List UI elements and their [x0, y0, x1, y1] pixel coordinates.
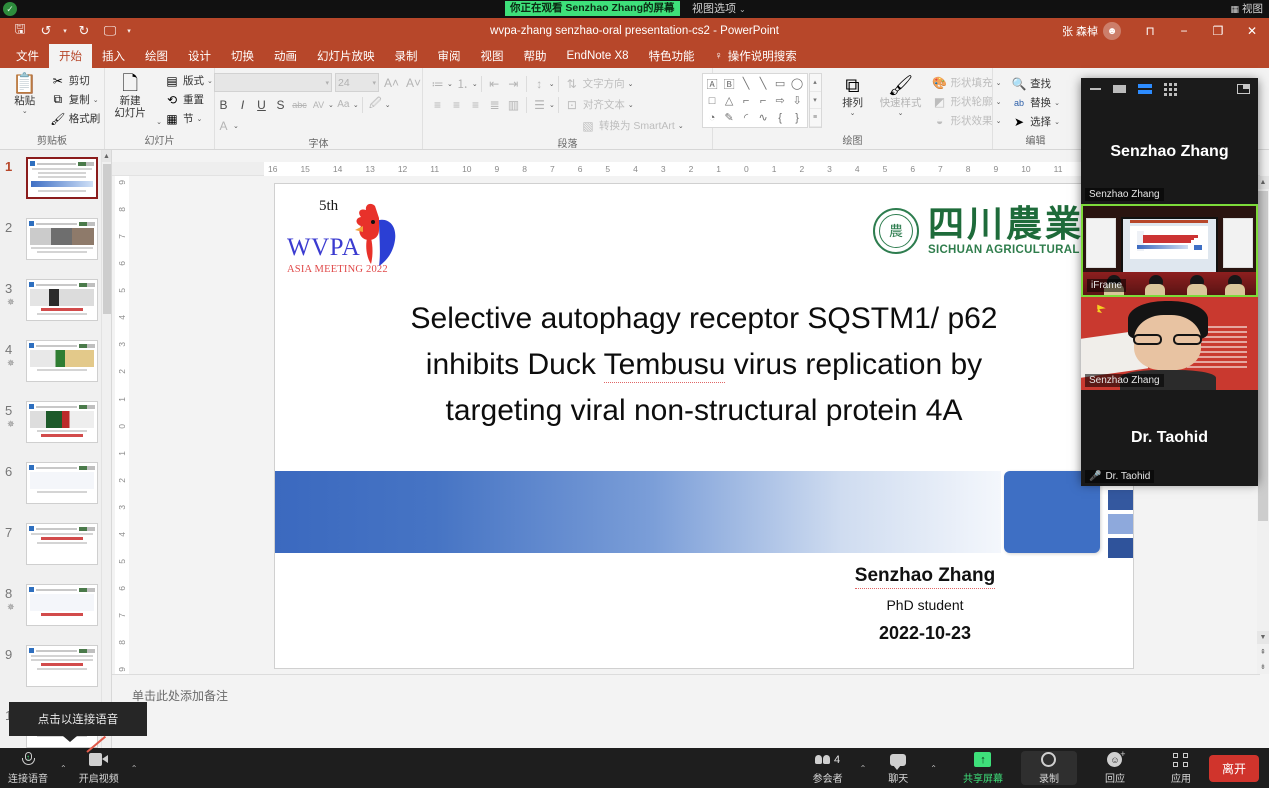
shape-elbow-arrow-icon[interactable]: ⌐ [755, 92, 772, 109]
author-name: Senzhao Zhang [855, 565, 995, 589]
align-left-icon[interactable]: ≡ [428, 95, 447, 114]
view-options-label: 视图选项 [692, 3, 736, 15]
start-video-button[interactable]: 开启视频 [71, 748, 127, 788]
close-icon[interactable]: ✕ [1235, 18, 1269, 44]
shape-outline-icon: ◩ [932, 95, 948, 109]
mic-muted-icon: 🎤 [1089, 471, 1101, 482]
ruler-tick: 4 [855, 164, 860, 174]
select-button[interactable]: ➤ 选择 ⌄ [1009, 112, 1062, 131]
thumb-number: 4 [5, 342, 12, 357]
cut-button[interactable]: ✂ 剪切 [48, 71, 103, 90]
restore-icon[interactable]: ❐ [1201, 18, 1235, 44]
table-row[interactable]: 6 [0, 460, 111, 516]
minimize-icon[interactable] [1090, 88, 1101, 90]
line-spacing-caret-icon[interactable]: ⌄ [549, 80, 555, 88]
ruler-tick: 12 [398, 164, 407, 174]
tab-home[interactable]: 开始 [49, 44, 92, 68]
title-line2-part-c: virus replication by [725, 348, 982, 381]
ruler-tick: 14 [333, 164, 342, 174]
thumb-number: 9 [5, 647, 12, 662]
slide-title-line-3: targeting viral non-structural protein 4… [323, 388, 1085, 434]
tab-view[interactable]: 视图 [471, 44, 514, 68]
font-color-icon[interactable]: A [214, 116, 233, 135]
animation-star-icon: ✵ [7, 358, 15, 369]
next-slide-icon[interactable]: ⇟ [1257, 659, 1269, 674]
text-columns-caret-icon[interactable]: ⌄ [549, 101, 555, 109]
ruler-tick: 0 [744, 164, 749, 174]
font-color-caret-icon[interactable]: ⌄ [233, 122, 239, 130]
reactions-label: 回应 [1105, 770, 1125, 785]
slide-vertical-scrollbar[interactable]: ▲ ▼ ⇞ ⇟ [1257, 176, 1269, 674]
participant-label: Senzhao Zhang [1085, 374, 1164, 387]
align-text-label: 对齐文本 [583, 97, 625, 112]
bullets-icon[interactable]: ≔ [428, 74, 447, 93]
decrease-font-size-icon[interactable]: A˅ [404, 73, 423, 92]
strikethrough-button[interactable]: abc [290, 95, 309, 114]
table-row[interactable]: 1 [0, 155, 111, 211]
wvpa-logo: 5th WVPA ASIA MEETING 2022 [287, 198, 407, 280]
thumb-number: 3 [5, 281, 12, 296]
ruler-tick: 16 [268, 164, 277, 174]
font-name-input[interactable]: ▾ [214, 73, 332, 92]
table-row[interactable]: 2 [0, 216, 111, 272]
format-painter-button[interactable]: 🖌 格式刷 [48, 109, 103, 128]
slide-thumbnail-2[interactable] [26, 218, 98, 260]
quick-access-toolbar: 🖫 ↺ ▾ ↻ 🖵 ▾ [0, 20, 134, 42]
bold-button[interactable]: B [214, 95, 233, 114]
headset-icon: ↑ [22, 751, 35, 768]
quick-styles-caret-icon[interactable]: ⌄ [898, 109, 904, 117]
active-view-icon[interactable] [1138, 84, 1152, 94]
replace-caret-icon[interactable]: ⌄ [1054, 99, 1060, 107]
customize-qat-caret-icon[interactable]: ▾ [124, 27, 134, 35]
tab-draw[interactable]: 绘图 [135, 44, 178, 68]
view-mode-button[interactable]: ▦视图 [1230, 1, 1263, 17]
thumb-number: 2 [5, 220, 12, 235]
scroll-up-icon[interactable]: ▲ [102, 150, 111, 162]
section-button[interactable]: ▦ 节 ⌄ [162, 109, 215, 128]
copy-button[interactable]: ⧉ 复制 ⌄ [48, 90, 103, 109]
shapes-scroll-up-icon[interactable]: ▴ [810, 74, 821, 92]
drawing-group-label: 绘图 [718, 132, 987, 149]
ruler-tick: 8 [522, 164, 527, 174]
tab-animations[interactable]: 动画 [264, 44, 307, 68]
zoom-tile-shared-room[interactable]: iFrame [1081, 204, 1258, 297]
zoom-panel-toolbar [1081, 78, 1258, 100]
table-row[interactable]: 5 ✵ [0, 399, 111, 455]
new-slide-label-1: 新建 [120, 95, 141, 107]
table-row[interactable]: 4 ✵ [0, 338, 111, 394]
tooltip-text: 点击以连接语音 [38, 711, 119, 727]
shapes-gallery-more-icon[interactable]: ≡ [810, 109, 821, 127]
align-right-icon[interactable]: ≡ [466, 95, 485, 114]
chat-label: 聊天 [888, 770, 908, 785]
divider [558, 97, 559, 113]
ruler-tick: 8 [966, 164, 971, 174]
decorative-square-2[interactable] [1108, 514, 1133, 534]
section-icon: ▦ [164, 112, 180, 126]
tab-help[interactable]: 帮助 [514, 44, 557, 68]
ruler-tick: 6 [910, 164, 915, 174]
tab-slideshow[interactable]: 幻灯片放映 [307, 44, 385, 68]
start-video-label: 开启视频 [79, 770, 119, 785]
screen-sharing-badge: 你正在观看 Senzhao Zhang的屏幕 [505, 1, 680, 16]
section-caret-icon[interactable]: ⌄ [197, 115, 203, 123]
participant-name-large: Dr. Taohid [1131, 429, 1208, 447]
video-options-caret-icon[interactable]: ⌃ [127, 748, 142, 788]
thumbnails-scrollbar[interactable]: ▲ ▼ [101, 150, 111, 766]
format-painter-label: 格式刷 [69, 111, 101, 126]
divider [481, 76, 482, 92]
slide-thumbnail-5[interactable] [26, 401, 98, 443]
italic-button[interactable]: I [233, 95, 252, 114]
table-row[interactable]: 3 ✵ [0, 277, 111, 333]
gallery-grid-icon[interactable] [1164, 83, 1177, 96]
slide-nav-buttons[interactable]: ⇞ ⇟ [1257, 644, 1269, 674]
change-case-caret-icon[interactable]: ⌄ [353, 101, 359, 109]
shape-fill-icon: 🎨 [932, 76, 948, 90]
slide-title-line-1: Selective autophagy receptor SQSTM1/ p62 [323, 296, 1085, 342]
paste-label: 粘贴 [14, 95, 35, 107]
scrollbar-thumb[interactable] [1258, 191, 1268, 521]
zoom-meeting-controls: ↑ 连接语音 ⌃ 开启视频 ⌃ 4 参会者 ⌃ 聊天 ⌃ ↑ 共享屏幕 [0, 748, 1269, 788]
decrease-indent-icon[interactable]: ⇤ [485, 74, 504, 93]
arrange-icon: ⧉ [845, 75, 859, 97]
character-spacing-button[interactable]: AV [309, 95, 328, 114]
slides-group-label: 幻灯片 [110, 132, 209, 149]
slide-thumbnail-7[interactable] [26, 523, 98, 565]
select-caret-icon[interactable]: ⌄ [1054, 118, 1060, 126]
new-slide-button[interactable]: 🗋 新建 幻灯片 [104, 71, 156, 119]
shape-triangle-icon[interactable]: △ [721, 92, 738, 109]
shape-fill-label: 形状填充 [951, 75, 993, 90]
shapes-gallery-scroll[interactable]: ▴ ▾ ≡ [809, 73, 822, 128]
change-case-button[interactable]: Aa [334, 95, 353, 114]
animation-star-icon: ✵ [7, 297, 15, 308]
thumb-number: 8 [5, 586, 12, 601]
tab-transitions[interactable]: 切换 [221, 44, 264, 68]
ruler-tick: 5 [883, 164, 888, 174]
copy-caret-icon[interactable]: ⌄ [93, 96, 99, 104]
layout-button[interactable]: ▤ 版式 ⌄ [162, 71, 215, 90]
line-spacing-icon[interactable]: ↕ [530, 74, 549, 93]
arrange-button[interactable]: ⧉ 排列 ⌄ [830, 73, 876, 117]
slide-thumbnail-4[interactable] [26, 340, 98, 382]
join-audio-label: 连接语音 [8, 770, 48, 785]
author-textbox[interactable]: Senzhao Zhang PhD student 2022-10-23 [765, 565, 1085, 644]
tab-review[interactable]: 审阅 [428, 44, 471, 68]
ribbon-group-paragraph: ≔ ⌄ ⒈ ⌄ ⇤ ⇥ ↕ ⌄ ⇅ 文字方向 [422, 68, 712, 149]
smartart-caret-icon[interactable]: ⌄ [678, 122, 684, 130]
reset-button[interactable]: ⟲ 重置 [162, 90, 215, 109]
ppt-titlebar: 🖫 ↺ ▾ ↻ 🖵 ▾ wvpa-zhang senzhao-oral pres… [0, 18, 1269, 44]
align-center-icon[interactable]: ≡ [447, 95, 466, 114]
ruler-tick: 5 [605, 164, 610, 174]
people-icon: 4 [815, 751, 840, 768]
camera-off-icon [89, 751, 108, 768]
reactions-icon: ☺+ [1107, 751, 1122, 768]
ruler-tick: 1 [117, 397, 127, 402]
section-label: 节 [183, 111, 194, 126]
shape-outline-label: 形状轮廓 [951, 94, 993, 109]
slide-thumbnail-3[interactable] [26, 279, 98, 321]
tab-design[interactable]: 设计 [178, 44, 221, 68]
audio-options-caret-icon[interactable]: ⌃ [56, 748, 71, 788]
ribbon-group-slides: 🗋 新建 幻灯片 ⌄ ▤ 版式 ⌄ ⟲ 重置 [104, 68, 214, 149]
numbering-icon[interactable]: ⒈ [453, 74, 472, 93]
paste-button[interactable]: 📋 粘贴 ⌄ [2, 71, 48, 115]
ruler-tick: 5 [117, 288, 127, 293]
powerpoint-window: 🖫 ↺ ▾ ↻ 🖵 ▾ wvpa-zhang senzhao-oral pres… [0, 18, 1269, 748]
shape-elbow-icon[interactable]: ⌐ [738, 92, 755, 109]
text-direction-button[interactable]: ⇅ 文字方向 ⌄ [562, 74, 636, 93]
shape-rectangle-icon[interactable]: ▭ [772, 75, 789, 92]
titlebar-right-group: 张 森棹 ☻ ⊓ − ❐ ✕ [1062, 18, 1269, 44]
replace-label: 替换 [1030, 95, 1051, 110]
flag-emblem-icon [1088, 301, 1123, 325]
clear-formatting-caret-icon[interactable]: ⌄ [385, 101, 391, 109]
slide-thumbnail-6[interactable] [26, 462, 98, 504]
shape-effects-label: 形状效果 [951, 113, 993, 128]
text-columns-icon[interactable]: ☰ [530, 95, 549, 114]
slide-canvas[interactable]: 5th WVPA ASIA MEETING 2022 [275, 184, 1133, 668]
tell-me-search[interactable]: ♀ 操作说明搜索 [705, 44, 807, 68]
ruler-tick: 9 [495, 164, 500, 174]
scroll-down-icon[interactable]: ▼ [1257, 631, 1269, 644]
ruler-tick: 3 [117, 505, 127, 510]
zoom-tile-name-only-2[interactable]: Dr. Taohid 🎤Dr. Taohid [1081, 390, 1258, 486]
shield-check-icon: ✓ [3, 2, 17, 16]
tab-record[interactable]: 录制 [385, 44, 428, 68]
layout-label: 版式 [183, 73, 204, 88]
participant-label-text: Dr. Taohid [1105, 471, 1150, 482]
font-size-input[interactable]: 24 ▾ [335, 73, 379, 92]
screen-root: ✓ 你正在观看 Senzhao Zhang的屏幕 视图选项⌄ ▦视图 🖫 ↺ ▾… [0, 0, 1269, 788]
picture-in-picture-icon[interactable] [1237, 84, 1250, 94]
columns-icon[interactable]: ▥ [504, 95, 523, 114]
divider [362, 97, 363, 113]
shape-line-icon[interactable]: ╲ [738, 75, 755, 92]
share-screen-button[interactable]: ↑ 共享屏幕 [955, 748, 1011, 788]
increase-indent-icon[interactable]: ⇥ [504, 74, 523, 93]
shape-scribble-icon[interactable]: ✎ [721, 109, 738, 126]
replace-icon: ab [1011, 98, 1027, 108]
previous-slide-icon[interactable]: ⇞ [1257, 644, 1269, 659]
table-row[interactable]: 7 [0, 521, 111, 577]
ruler-tick: 8 [117, 640, 127, 645]
clear-formatting-icon[interactable]: 🖉 [366, 95, 385, 114]
lightbulb-icon: ♀ [715, 50, 723, 62]
arrange-caret-icon[interactable]: ⌄ [850, 109, 856, 117]
author-role: PhD student [765, 597, 1085, 613]
participants-button[interactable]: 4 参会者 [800, 748, 856, 788]
shape-down-arrow-icon[interactable]: ⇩ [789, 92, 806, 109]
replace-button[interactable]: ab 替换 ⌄ [1009, 93, 1062, 112]
shape-brace-icon[interactable]: { [772, 109, 789, 126]
decorative-gradient-banner[interactable] [275, 471, 1001, 553]
avatar[interactable]: ☻ [1103, 22, 1121, 40]
share-screen-label: 共享屏幕 [963, 770, 1003, 785]
divider [526, 97, 527, 113]
table-row[interactable]: 8 ✵ [0, 582, 111, 638]
cursor-icon: ➤ [1011, 115, 1027, 129]
slide-thumbnail-1[interactable] [26, 157, 98, 199]
slide-thumbnails-pane[interactable]: 1 2 3 ✵ [0, 150, 112, 766]
underline-button[interactable]: U [252, 95, 271, 114]
ribbon-display-options-icon[interactable]: ⊓ [1133, 18, 1167, 44]
horizontal-ruler-scale: 16 15 14 13 12 11 10 9 8 7 6 5 4 3 [264, 162, 1164, 176]
layout-caret-icon[interactable]: ⌄ [207, 77, 213, 85]
save-icon[interactable]: 🖫 [8, 20, 32, 42]
seal-glyph: 農 [889, 221, 903, 241]
join-audio-button[interactable]: ↑ 连接语音 [0, 748, 56, 788]
leave-meeting-button[interactable]: 离开 [1209, 755, 1259, 782]
slide-thumbnail-9[interactable] [26, 645, 98, 687]
ruler-tick: 10 [1021, 164, 1030, 174]
ribbon-group-editing: 🔍 查找 ab 替换 ⌄ ➤ 选择 ⌄ [992, 68, 1078, 149]
justify-icon[interactable]: ≣ [485, 95, 504, 114]
minus-icon[interactable] [1113, 85, 1126, 93]
shape-vertical-textbox-icon[interactable]: 🄱 [721, 75, 738, 92]
paste-icon: 📋 [12, 73, 37, 95]
thumb-number: 7 [5, 525, 12, 540]
numbering-caret-icon[interactable]: ⌄ [472, 80, 478, 88]
record-button[interactable]: 录制 [1021, 751, 1077, 785]
quick-styles-button[interactable]: 🖌 快速样式 ⌄ [876, 73, 926, 117]
font-size-caret-icon: ▾ [372, 79, 376, 87]
tab-endnote[interactable]: EndNote X8 [557, 44, 639, 68]
redo-icon[interactable]: ↻ [72, 20, 96, 42]
shape-oval-icon[interactable]: ◯ [789, 75, 806, 92]
smartart-icon: ▧ [580, 119, 596, 133]
slide-thumbnail-8[interactable] [26, 584, 98, 626]
shapes-gallery[interactable]: 🄰 🄱 ╲ ╲ ▭ ◯ □ △ ⌐ ⌐ ⇨ ⇩ ◔ [702, 73, 808, 128]
ruler-tick: 11 [1054, 164, 1063, 174]
shape-line-arrow-icon[interactable]: ╲ [755, 75, 772, 92]
zoom-top-strip: ✓ 你正在观看 Senzhao Zhang的屏幕 视图选项⌄ ▦视图 [0, 0, 1269, 18]
decorative-square-1[interactable] [1108, 490, 1133, 510]
participants-count: 4 [834, 754, 840, 766]
shape-square-icon[interactable]: □ [704, 92, 721, 109]
ruler-tick: 3 [117, 342, 127, 347]
tab-insert[interactable]: 插入 [92, 44, 135, 68]
font-size-value: 24 [338, 77, 350, 89]
align-text-button[interactable]: ⊡ 对齐文本 ⌄ [562, 95, 636, 114]
wvpa-fifth-label: 5th [319, 198, 338, 215]
ruler-tick: 1 [117, 451, 127, 456]
undo-dropdown-caret-icon[interactable]: ▾ [60, 27, 70, 35]
ruler-tick: 2 [799, 164, 804, 174]
shape-curve-icon[interactable]: ∿ [755, 109, 772, 126]
ruler-tick: 3 [661, 164, 666, 174]
chat-icon [890, 751, 906, 768]
record-icon [1041, 751, 1056, 768]
ruler-tick: 15 [300, 164, 309, 174]
find-button[interactable]: 🔍 查找 [1009, 74, 1062, 93]
work-area: 1 2 3 ✵ [0, 150, 1269, 766]
ruler-tick: 5 [117, 559, 127, 564]
cut-label: 剪切 [69, 73, 90, 88]
text-direction-caret-icon[interactable]: ⌄ [628, 80, 634, 88]
grid-icon: ▦ [1230, 4, 1239, 14]
title-line2-tembusu: Tembusu [604, 348, 726, 383]
start-presentation-icon[interactable]: 🖵 [98, 20, 122, 42]
shapes-scroll-down-icon[interactable]: ▾ [810, 92, 821, 110]
ruler-tick: 4 [633, 164, 638, 174]
editing-group-label: 编辑 [998, 132, 1073, 149]
participants-label: 参会者 [813, 770, 843, 785]
undo-icon[interactable]: ↺ [34, 20, 58, 42]
zoom-video-panel[interactable]: Senzhao Zhang Senzhao Zhang [1081, 78, 1258, 482]
ribbon-group-font: ▾ 24 ▾ A˄ A˅ B I U S abc [214, 68, 422, 149]
increase-font-size-icon[interactable]: A˄ [382, 73, 401, 92]
apps-button[interactable]: 应用 [1153, 748, 1209, 788]
shape-right-arrow-icon[interactable]: ⇨ [772, 92, 789, 109]
tell-me-label: 操作说明搜索 [728, 48, 797, 64]
university-seal-icon: 農 [873, 208, 919, 254]
slide-title-line-2: inhibits Duck Tembusu virus replication … [323, 342, 1085, 388]
paste-caret-icon[interactable]: ⌄ [22, 107, 28, 115]
table-row[interactable]: 9 [0, 643, 111, 699]
thumb-number: 5 [5, 403, 12, 418]
chevron-down-icon: ⌄ [739, 5, 746, 14]
convert-smartart-button[interactable]: ▧ 转换为 SmartArt ⌄ [578, 116, 686, 135]
ruler-tick: 13 [365, 164, 374, 174]
shape-brace-right-icon[interactable]: } [789, 109, 806, 126]
ruler-tick: 2 [689, 164, 694, 174]
ruler-tick: 9 [117, 667, 127, 672]
text-shadow-button[interactable]: S [271, 95, 290, 114]
view-options-button[interactable]: 视图选项⌄ [692, 1, 746, 17]
divider [558, 76, 559, 92]
clipboard-group-label: 剪贴板 [5, 132, 99, 149]
animation-star-icon: ✵ [7, 419, 15, 430]
ruler-tick: 9 [117, 180, 127, 185]
new-slide-label-2: 幻灯片 [114, 107, 146, 119]
ruler-tick: 3 [827, 164, 832, 174]
tab-file[interactable]: 文件 [6, 44, 49, 68]
minimize-icon[interactable]: − [1167, 18, 1201, 44]
text-direction-icon: ⇅ [564, 77, 580, 91]
scrollbar-thumb[interactable] [103, 164, 111, 314]
vertical-ruler[interactable]: 9 8 7 6 5 4 3 2 1 0 1 2 3 4 5 6 7 [115, 176, 129, 676]
chat-button[interactable]: 聊天 [870, 748, 926, 788]
share-screen-icon: ↑ [974, 751, 991, 768]
scissors-icon: ✂ [50, 74, 66, 88]
shape-pie-icon[interactable]: ◔ [704, 109, 721, 126]
chat-caret-icon[interactable]: ⌃ [926, 748, 941, 788]
shape-textbox-icon[interactable]: 🄰 [704, 75, 721, 92]
slide-title-textbox[interactable]: Selective autophagy receptor SQSTM1/ p62… [323, 296, 1085, 434]
reactions-button[interactable]: ☺+ 回应 [1087, 748, 1143, 788]
ruler-tick: 7 [117, 234, 127, 239]
scroll-up-icon[interactable]: ▲ [1257, 176, 1269, 189]
account-name: 张 森棹 [1062, 23, 1098, 39]
decorative-square-3[interactable] [1108, 538, 1133, 558]
participants-caret-icon[interactable]: ⌃ [856, 748, 871, 788]
zoom-tile-person-video[interactable]: Senzhao Zhang [1081, 297, 1258, 390]
new-slide-icon: 🗋 [122, 73, 138, 95]
divider [526, 76, 527, 92]
ribbon-group-drawing: 🄰 🄱 ╲ ╲ ▭ ◯ □ △ ⌐ ⌐ ⇨ ⇩ ◔ [712, 68, 992, 149]
view-mode-label: 视图 [1242, 3, 1263, 15]
tab-featured[interactable]: 特色功能 [639, 44, 705, 68]
ruler-tick: 10 [462, 164, 471, 174]
ribbon-group-clipboard: 📋 粘贴 ⌄ ✂ 剪切 ⧉ 复制 ⌄ [0, 68, 104, 149]
zoom-tile-name-only[interactable]: Senzhao Zhang Senzhao Zhang [1081, 100, 1258, 204]
align-text-caret-icon[interactable]: ⌄ [628, 101, 634, 109]
shape-arc-icon[interactable]: ◜ [738, 109, 755, 126]
